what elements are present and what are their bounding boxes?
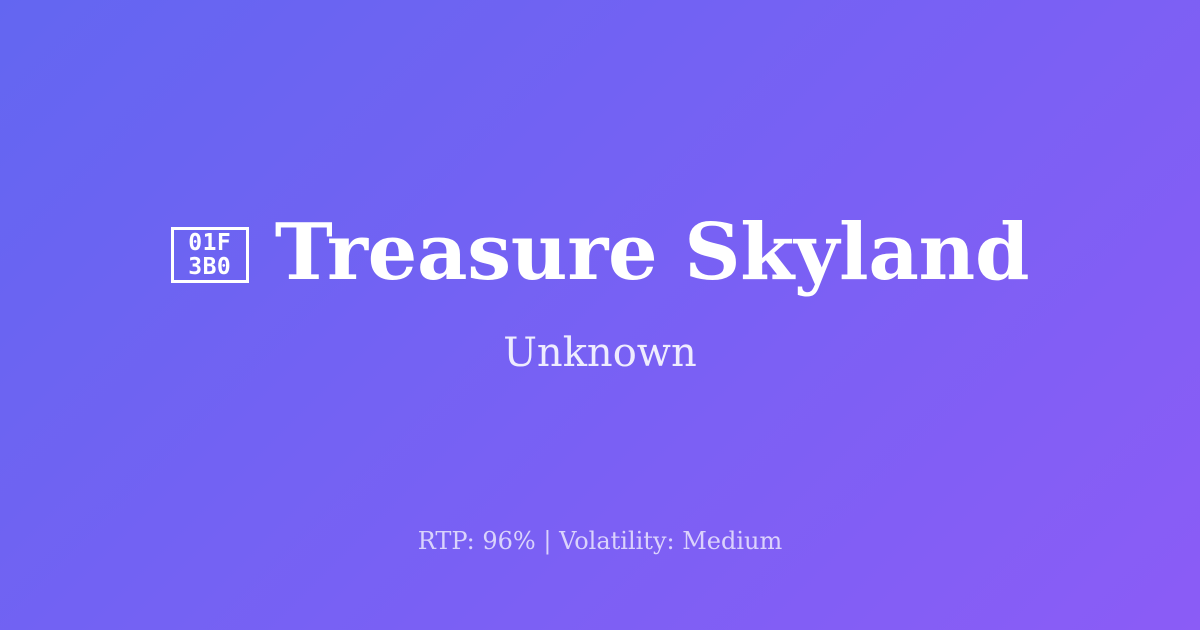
game-meta-line: RTP: 96% | Volatility: Medium <box>0 527 1200 556</box>
game-title-text: Treasure Skyland <box>275 211 1029 295</box>
tofu-codepoint-top: 01F <box>188 231 231 255</box>
game-og-card: 01F 3B0 Treasure Skyland Unknown RTP: 96… <box>0 0 1200 630</box>
slot-machine-icon: 01F 3B0 <box>171 227 249 283</box>
tofu-codepoint-bottom: 3B0 <box>188 255 231 279</box>
page-title: 01F 3B0 Treasure Skyland <box>171 211 1029 295</box>
game-provider-subtitle: Unknown <box>503 329 697 377</box>
card-center-block: 01F 3B0 Treasure Skyland Unknown <box>0 211 1200 377</box>
